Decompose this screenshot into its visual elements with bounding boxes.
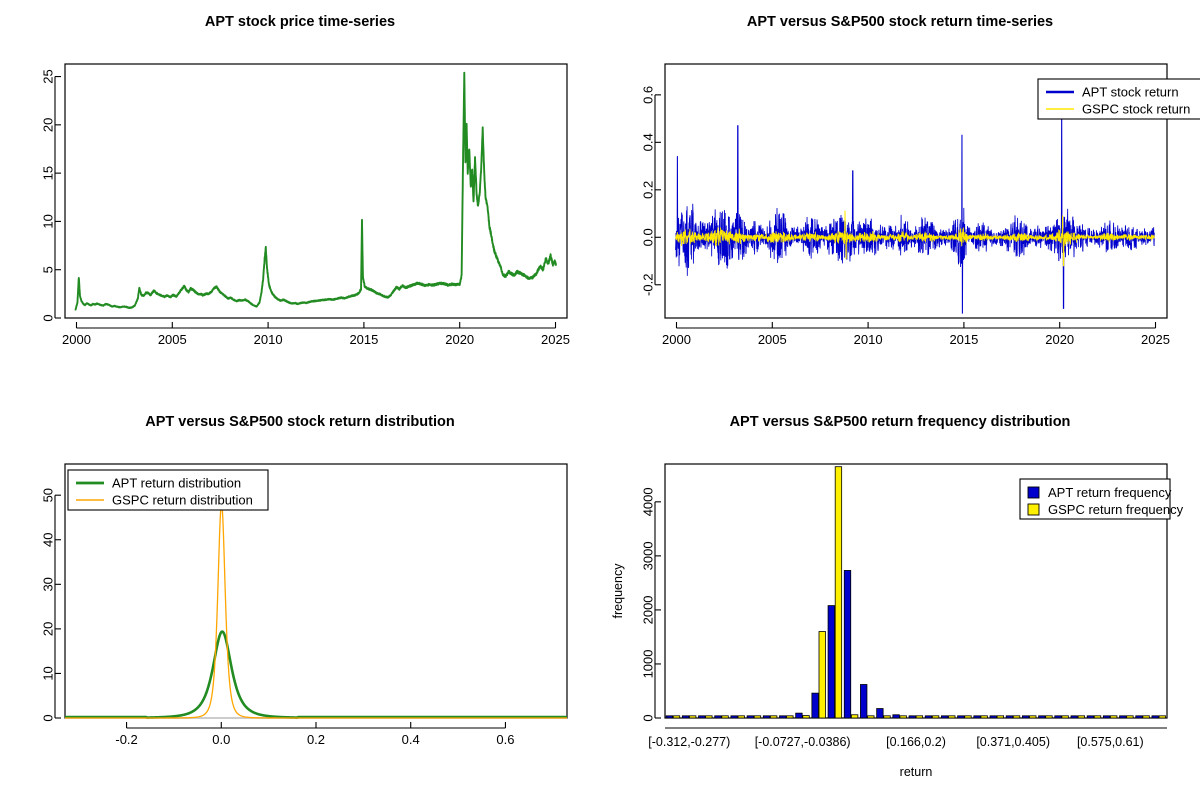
return-series-y-tick-label: 0.6	[640, 86, 655, 104]
panel-return-frequency-distribution: APT versus S&P500 return frequency distr…	[600, 400, 1200, 800]
histogram-bar	[981, 716, 987, 718]
histogram-bar	[909, 716, 915, 718]
apt-return-distribution-curve	[65, 632, 567, 718]
histogram-bar	[1094, 716, 1100, 718]
histogram-bar	[666, 716, 672, 718]
histogram-bar	[990, 716, 996, 718]
histogram-bar	[1039, 716, 1045, 718]
return-series-y-tick-label: 0.2	[640, 181, 655, 199]
histogram-bar	[738, 716, 744, 718]
legend-swatch-square	[1028, 487, 1039, 498]
density-y-tick-label: 10	[40, 666, 55, 680]
plot-return-density: -0.20.00.20.40.601020304050APT return di…	[0, 400, 600, 800]
histogram-bar	[787, 716, 793, 718]
histogram-bar	[925, 716, 931, 718]
density-x-tick-label: 0.2	[307, 732, 325, 747]
panel-apt-gspc-return-time-series: APT versus S&P500 stock return time-seri…	[600, 0, 1200, 400]
histogram-bar	[796, 713, 802, 718]
histogram-bar	[1078, 716, 1084, 718]
frequency-bin-label: [0.575,0.61)	[1077, 735, 1144, 749]
apt-price-y-tick-label: 15	[40, 166, 55, 180]
histogram-bar	[673, 716, 679, 718]
return-series-x-tick-label: 2025	[1141, 332, 1170, 347]
histogram-bar	[715, 716, 721, 718]
density-x-tick-label: -0.2	[115, 732, 137, 747]
return-series-x-tick-label: 2020	[1045, 332, 1074, 347]
histogram-bar	[1103, 716, 1109, 718]
apt-stock-return-line	[676, 104, 1155, 313]
apt-price-x-tick-label: 2005	[158, 332, 187, 347]
return-series-y-tick-label: 0.4	[640, 133, 655, 151]
frequency-y-tick-label: 2000	[640, 595, 655, 624]
histogram-bar	[900, 716, 906, 718]
density-y-tick-label: 20	[40, 622, 55, 636]
apt-frequency-bars	[666, 570, 1158, 718]
histogram-bar	[1136, 716, 1142, 718]
frequency-y-axis: 01000200030004000	[640, 487, 661, 721]
apt-price-y-tick-label: 20	[40, 118, 55, 132]
density-y-tick-label: 0	[40, 714, 55, 721]
legend-label: APT stock return	[1082, 85, 1179, 100]
histogram-bar	[770, 716, 776, 718]
histogram-bar	[1055, 716, 1061, 718]
apt-price-y-tick-label: 25	[40, 69, 55, 83]
histogram-bar	[1127, 716, 1133, 718]
frequency-bin-labels: [-0.312,-0.277)[-0.0727,-0.0386)[0.166,0…	[648, 735, 1143, 749]
apt-price-x-tick-label: 2025	[541, 332, 570, 347]
return-series-x-tick-label: 2005	[758, 332, 787, 347]
frequency-bin-label: [0.371,0.405)	[976, 735, 1050, 749]
frequency-y-tick-label: 1000	[640, 649, 655, 678]
histogram-bar	[1120, 716, 1126, 718]
plot-apt-price: 2000200520102015202020250510152025	[0, 0, 600, 400]
apt-price-x-axis: 200020052010201520202025	[62, 322, 570, 347]
apt-price-y-tick-label: 0	[40, 314, 55, 321]
histogram-bar	[1046, 716, 1052, 718]
histogram-bar	[812, 693, 818, 718]
histogram-bar	[844, 570, 850, 718]
histogram-bar	[706, 716, 712, 718]
histogram-bar	[949, 716, 955, 718]
histogram-bar	[722, 716, 728, 718]
legend-label: GSPC return distribution	[112, 493, 253, 508]
histogram-bar	[689, 716, 695, 718]
histogram-bar	[828, 606, 834, 718]
histogram-bar	[958, 716, 964, 718]
apt-price-y-tick-label: 5	[40, 266, 55, 273]
histogram-bar	[699, 716, 705, 718]
legend-swatch-square	[1028, 504, 1039, 515]
histogram-bar	[1110, 716, 1116, 718]
return-series-legend: APT stock returnGSPC stock return	[1038, 79, 1200, 119]
density-y-tick-label: 30	[40, 577, 55, 591]
frequency-bin-label: [0.166,0.2)	[886, 735, 946, 749]
return-series-x-axis: 200020052010201520202025	[662, 322, 1170, 347]
return-series-y-tick-label: -0.2	[640, 274, 655, 296]
histogram-bar	[884, 716, 890, 718]
return-series-x-tick-label: 2000	[662, 332, 691, 347]
return-series-x-tick-label: 2015	[949, 332, 978, 347]
return-series-y-tick-label: 0.0	[640, 228, 655, 246]
histogram-bar	[868, 716, 874, 718]
density-x-tick-label: 0.6	[496, 732, 514, 747]
return-series-x-tick-label: 2010	[854, 332, 883, 347]
histogram-bar	[803, 716, 809, 718]
histogram-bar	[1022, 716, 1028, 718]
density-y-tick-label: 50	[40, 488, 55, 502]
histogram-bar	[974, 716, 980, 718]
histogram-bar	[682, 716, 688, 718]
frequency-bin-label: [-0.312,-0.277)	[648, 735, 730, 749]
panel-apt-price-time-series: APT stock price time-series 200020052010…	[0, 0, 600, 400]
frequency-bin-label: [-0.0727,-0.0386)	[755, 735, 851, 749]
density-x-axis: -0.20.00.20.40.6	[115, 722, 514, 747]
density-legend: APT return distributionGSPC return distr…	[68, 470, 268, 510]
density-x-tick-label: 0.0	[212, 732, 230, 747]
figure-canvas: APT stock price time-series 200020052010…	[0, 0, 1200, 800]
histogram-bar	[965, 716, 971, 718]
x-axis-title: return	[900, 765, 933, 779]
apt-price-x-tick-label: 2020	[445, 332, 474, 347]
apt-price-y-axis: 0510152025	[40, 69, 61, 321]
histogram-bar	[819, 632, 825, 718]
histogram-bar	[997, 716, 1003, 718]
frequency-y-tick-label: 4000	[640, 487, 655, 516]
histogram-bar	[763, 716, 769, 718]
histogram-bar	[1087, 716, 1093, 718]
legend-label: GSPC return frequency	[1048, 502, 1184, 517]
histogram-bar	[916, 716, 922, 718]
histogram-bar	[860, 684, 866, 718]
frequency-y-tick-label: 3000	[640, 541, 655, 570]
histogram-bar	[1071, 716, 1077, 718]
histogram-bar	[747, 716, 753, 718]
histogram-bar	[1030, 716, 1036, 718]
y-axis-title: frequency	[611, 563, 625, 619]
legend-label: APT return frequency	[1048, 485, 1172, 500]
histogram-bar	[1006, 716, 1012, 718]
return-series-y-axis: -0.20.00.20.40.6	[640, 86, 661, 296]
density-y-axis: 01020304050	[40, 488, 61, 722]
frequency-legend: APT return frequencyGSPC return frequenc…	[1020, 479, 1184, 519]
apt-price-y-tick-label: 10	[40, 214, 55, 228]
histogram-bar	[877, 709, 883, 718]
histogram-bar	[1013, 716, 1019, 718]
legend-label: GSPC stock return	[1082, 102, 1190, 117]
apt-price-x-tick-label: 2000	[62, 332, 91, 347]
histogram-bar	[835, 467, 841, 718]
legend-label: APT return distribution	[112, 476, 241, 491]
frequency-y-tick-label: 0	[640, 714, 655, 721]
density-y-tick-label: 40	[40, 533, 55, 547]
histogram-bar	[851, 715, 857, 718]
histogram-bar	[1062, 716, 1068, 718]
histogram-bar	[1159, 716, 1165, 718]
apt-price-line	[76, 73, 556, 310]
density-x-tick-label: 0.4	[402, 732, 420, 747]
histogram-bar	[893, 715, 899, 718]
gspc-return-distribution-curve	[65, 503, 567, 718]
panel-return-distribution: APT versus S&P500 stock return distribut…	[0, 400, 600, 800]
histogram-bar	[932, 716, 938, 718]
apt-price-x-tick-label: 2010	[254, 332, 283, 347]
histogram-bar	[941, 716, 947, 718]
apt-price-x-tick-label: 2015	[349, 332, 378, 347]
histogram-bar	[754, 716, 760, 718]
plot-return-histogram: 01000200030004000[-0.312,-0.277)[-0.0727…	[600, 400, 1200, 800]
histogram-bar	[779, 716, 785, 718]
histogram-bar	[1152, 716, 1158, 718]
plot-apt-gspc-returns: 200020052010201520202025-0.20.00.20.40.6…	[600, 0, 1200, 400]
histogram-bar	[731, 716, 737, 718]
histogram-bar	[1143, 716, 1149, 718]
